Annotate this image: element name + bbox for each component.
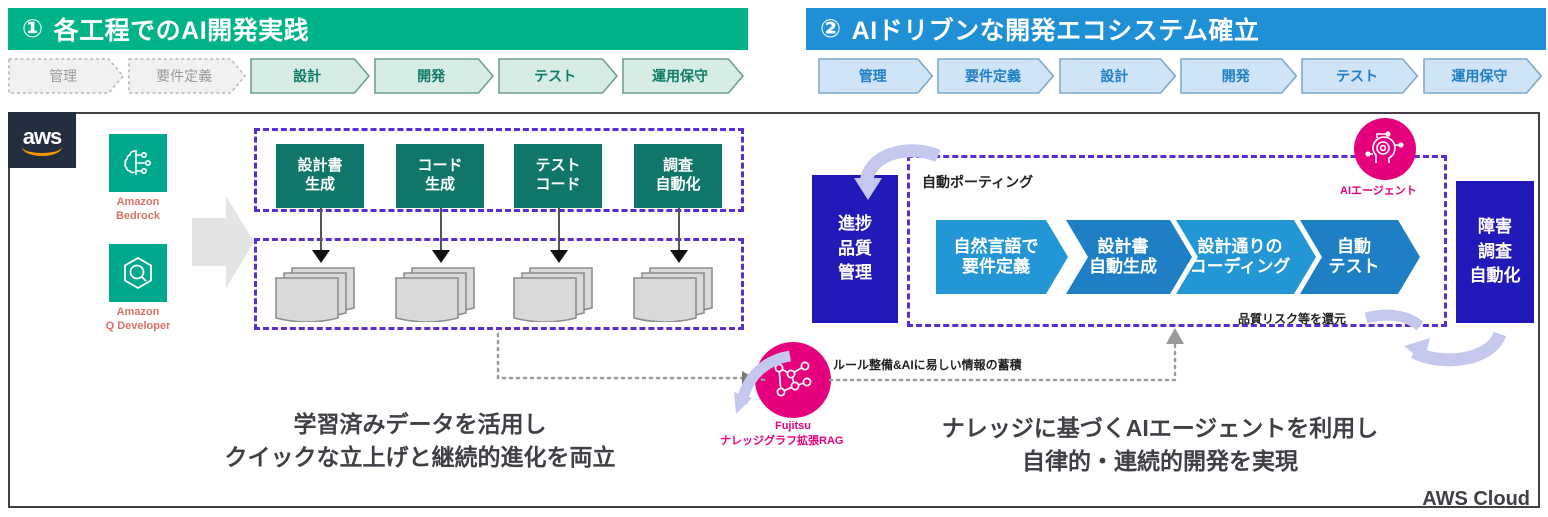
aws-cloud-label: AWS Cloud [1422,488,1530,511]
left-caption: 学習済みデータを活用し クイックな立上げと継続的進化を両立 [170,408,670,475]
pipeline-line1: 設計通りの [1198,237,1283,257]
artifact-stack-3 [506,264,610,322]
phase-label: 運用保守 [652,66,708,86]
task-arrow-1 [312,250,330,263]
task-connector-3 [558,208,560,250]
fault-investigation-box: 障害 調査 自動化 [1456,181,1534,323]
task-line2: 生成 [417,176,462,195]
service-amazon-q-developer: Amazon Q Developer [90,244,186,334]
section-2-header: ② AIドリブンな開発エコシステム確立 [806,8,1546,50]
artifact-stack-4 [626,264,730,322]
service-label-line2: Q Developer [90,320,186,334]
service-label-line2: Bedrock [90,210,186,224]
phase-label: 設計 [293,66,321,86]
task-connector-4 [678,208,680,250]
pipeline-line2: 自動生成 [1089,257,1157,277]
section-2-title: AIドリブンな開発エコシステム確立 [852,11,1260,47]
hexagon-q-icon [109,244,167,302]
task-arrow-2 [432,250,450,263]
pipeline-line1: 自然言語で [954,237,1039,257]
pipeline-line1: 設計書 [1098,237,1149,257]
pipeline-step-1[interactable]: 自然言語で要件定義 [936,220,1068,294]
right-caption-line1: ナレッジに基づくAIエージェントを利用し [900,412,1420,445]
phase-chevron-4[interactable]: 開発 [374,58,494,94]
fault-line-2: 調査 [1470,240,1521,265]
right-caption-line2: 自律的・連続的開発を実現 [900,445,1420,478]
task-connector-1 [320,208,322,250]
left-caption-line2: クイックな立上げと継続的進化を両立 [170,441,670,474]
flow-arrow-icon [192,196,254,288]
phase-chevron-1[interactable]: 管理 [818,58,933,94]
brain-chip-icon [109,134,167,192]
phase-label: 管理 [859,66,887,86]
pipeline-line2: テスト [1329,257,1380,277]
phase-chevron-5[interactable]: テスト [1301,58,1418,94]
section-1-number: ① [22,14,44,44]
phase-chevron-4[interactable]: 開発 [1180,58,1297,94]
right-caption: ナレッジに基づくAIエージェントを利用し 自律的・連続的開発を実現 [900,412,1420,479]
progress-quality-management-box: 進捗 品質 管理 [812,175,898,323]
phase-chevron-3[interactable]: 設計 [1059,58,1176,94]
service-amazon-bedrock: Amazon Bedrock [90,134,186,224]
progress-line-3: 管理 [838,261,872,286]
service-label-line1: Amazon [90,196,186,210]
ai-agent-label: AIエージェント [1340,182,1414,198]
auto-porting-label: 自動ポーティング [922,172,1033,192]
rag-name-label: ナレッジグラフ拡張RAG [720,432,810,448]
section-2-number: ② [820,14,842,44]
phase-label: テスト [534,66,576,86]
phase-chevron-6[interactable]: 運用保守 [622,58,744,94]
phase-label: 設計 [1100,66,1128,86]
section-1-phase-row: 管理要件定義設計開発テスト運用保守 [8,58,748,96]
task-line1: 調査 [655,157,700,176]
phase-chevron-1[interactable]: 管理 [8,58,124,94]
task-line1: コード [417,157,462,176]
phase-label: 開発 [417,66,445,86]
aws-smile-icon [22,147,62,156]
diagram-canvas: ① 各工程でのAI開発実践 管理要件定義設計開発テスト運用保守 ② AIドリブン… [0,0,1548,517]
task-line2: 自動化 [655,176,700,195]
section-1-title: 各工程でのAI開発実践 [54,11,310,47]
phase-chevron-2[interactable]: 要件定義 [128,58,246,94]
ai-task-box-4[interactable]: 調査自動化 [634,144,722,208]
ai-task-box-2[interactable]: コード生成 [396,144,484,208]
task-line2: コード [535,176,580,195]
ai-task-box-1[interactable]: 設計書生成 [276,144,364,208]
task-line1: 設計書 [297,157,342,176]
phase-label: 要件定義 [965,66,1021,86]
task-connector-2 [440,208,442,250]
phase-chevron-6[interactable]: 運用保守 [1423,58,1542,94]
pipeline-line2: 要件定義 [962,257,1030,277]
artifact-stack-2 [388,264,492,322]
phase-label: 管理 [49,66,77,86]
rule-accumulation-label: ルール整備&AIに易しい情報の蓄積 [833,356,1022,373]
progress-line-1: 進捗 [838,212,872,237]
left-caption-line1: 学習済みデータを活用し [170,408,670,441]
pipeline-step-2[interactable]: 設計書自動生成 [1066,220,1192,294]
knowledge-graph-icon [755,342,831,418]
pipeline-step-4[interactable]: 自動テスト [1300,220,1420,294]
phase-label: 要件定義 [156,66,212,86]
progress-line-2: 品質 [838,237,872,262]
task-arrow-4 [670,250,688,263]
ai-head-icon [1354,118,1416,180]
fault-line-1: 障害 [1470,215,1521,240]
fault-line-3: 自動化 [1470,264,1521,289]
task-line2: 生成 [297,176,342,195]
pipeline-step-3[interactable]: 設計通りのコーディング [1176,220,1316,294]
phase-label: 開発 [1222,66,1250,86]
artifact-stack-1 [268,264,372,322]
pipeline-line2: コーディング [1190,257,1291,277]
task-arrow-3 [550,250,568,263]
service-label-line1: Amazon [90,306,186,320]
rag-brand-label: Fujitsu [748,420,838,432]
pipeline-line1: 自動 [1337,237,1371,257]
knowledge-graph-rag-node: Fujitsu ナレッジグラフ拡張RAG [748,342,838,448]
quality-feedback-label: 品質リスク等を還元 [1238,310,1346,327]
section-1-header: ① 各工程でのAI開発実践 [8,8,748,50]
section-2-phase-row: 管理要件定義設計開発テスト運用保守 [818,58,1546,96]
task-line1: テスト [535,157,580,176]
phase-chevron-5[interactable]: テスト [498,58,618,94]
ai-agent-node: AIエージェント [1348,118,1422,198]
ai-task-box-3[interactable]: テストコード [514,144,602,208]
phase-chevron-2[interactable]: 要件定義 [937,58,1054,94]
phase-chevron-3[interactable]: 設計 [250,58,370,94]
aws-logo: aws [8,112,76,168]
phase-label: テスト [1336,66,1378,86]
phase-label: 運用保守 [1451,66,1507,86]
